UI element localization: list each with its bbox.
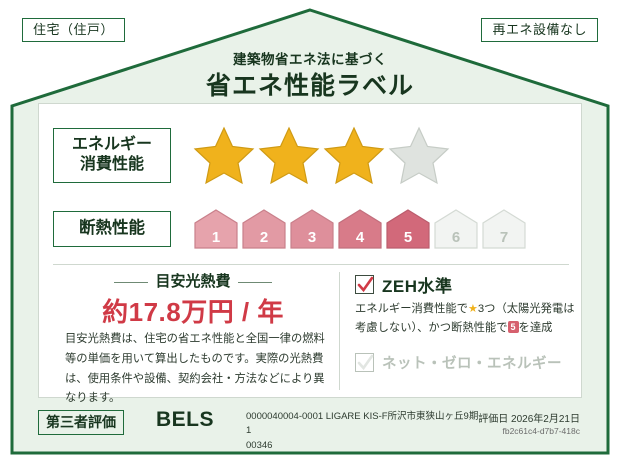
- row-insulation-label: 断熱性能: [53, 211, 171, 247]
- rule-right: [238, 282, 272, 283]
- certificate-id-line1: 0000040004-0001 LIGARE KIS-F所沢市東狭山ヶ丘9期1: [246, 411, 478, 436]
- zeh-desc-part3: を達成: [519, 322, 553, 334]
- bels-logo: BELS: [156, 408, 214, 432]
- star-icon-4-empty: [388, 125, 450, 185]
- third-party-evaluation-badge: 第三者評価: [38, 410, 124, 435]
- zeh-checkbox[interactable]: [355, 275, 374, 294]
- certificate-id-line2: 00346: [246, 440, 272, 451]
- net-zero-energy-row: ネット・ゼロ・エネルギー: [355, 352, 562, 373]
- certificate-id: 0000040004-0001 LIGARE KIS-F所沢市東狭山ヶ丘9期1 …: [246, 410, 481, 453]
- grade-1: 1: [193, 208, 239, 250]
- insulation-grade-scale: 1 2 3 4 5: [171, 208, 583, 250]
- grade-2-value: 2: [241, 229, 287, 246]
- grade-6-value: 6: [433, 229, 479, 246]
- net-zero-energy-checkbox[interactable]: [355, 353, 374, 372]
- star-icon-2-filled: [258, 125, 320, 185]
- tag-housing-type: 住宅（住戸）: [22, 18, 125, 42]
- title-main: 省エネ性能ラベル: [0, 66, 620, 102]
- grade-2: 2: [241, 208, 287, 250]
- net-zero-energy-label: ネット・ゼロ・エネルギー: [382, 352, 562, 373]
- energy-cost-note: 目安光熱費は、住宅の省エネ性能と全国一律の燃料等の単価を用いて算出したものです。…: [65, 330, 327, 409]
- tag-renewable-energy: 再エネ設備なし: [481, 18, 598, 42]
- grade-4-value: 4: [337, 229, 383, 246]
- energy-performance-label: 住宅（住戸） 再エネ設備なし 建築物省エネ法に基づく 省エネ性能ラベル エネルギ…: [0, 0, 620, 463]
- grade-3-value: 3: [289, 229, 335, 246]
- star-rating: [171, 125, 583, 185]
- star-icon-mini: ★: [468, 303, 478, 315]
- grade-3: 3: [289, 208, 335, 250]
- rule-left: [114, 282, 148, 283]
- grade-5-value: 5: [385, 229, 431, 246]
- star-icon-1-filled: [193, 125, 255, 185]
- row-insulation-performance: 断熱性能 1 2 3 4: [39, 200, 583, 258]
- row-energy-label-line1: エネルギー: [72, 136, 152, 153]
- row-energy-performance: エネルギー 消費性能: [39, 114, 583, 196]
- title-subtitle: 建築物省エネ法に基づく: [0, 48, 620, 68]
- label-card: エネルギー 消費性能 断熱性能: [38, 103, 582, 398]
- evaluation-date: 評価日 2026年2月21日: [478, 410, 580, 425]
- zeh-label: ZEH水準: [382, 272, 453, 297]
- star-icon-3-filled: [323, 125, 385, 185]
- grade-6: 6: [433, 208, 479, 250]
- zeh-row: ZEH水準: [355, 272, 453, 297]
- grade-4: 4: [337, 208, 383, 250]
- footer: 第三者評価 BELS 0000040004-0001 LIGARE KIS-F所…: [38, 406, 582, 448]
- zeh-description: エネルギー消費性能で★3つ（太陽光発電は考慮しない）、かつ断熱性能で5を達成: [355, 300, 577, 337]
- energy-cost-title: 目安光熱費: [53, 270, 333, 291]
- document-hash: fb2c61c4-d7b7-418c: [502, 426, 580, 436]
- divider-horizontal: [53, 264, 569, 265]
- grade-7: 7: [481, 208, 527, 250]
- grade-1-value: 1: [193, 229, 239, 246]
- energy-cost-title-text: 目安光熱費: [155, 273, 230, 290]
- grade-badge-mini: 5: [508, 321, 519, 333]
- energy-cost-value: 約17.8万円 / 年: [53, 292, 333, 329]
- grade-5: 5: [385, 208, 431, 250]
- row-energy-label: エネルギー 消費性能: [53, 128, 171, 183]
- divider-vertical: [339, 272, 340, 390]
- row-energy-label-line2: 消費性能: [80, 156, 144, 173]
- grade-7-value: 7: [481, 229, 527, 246]
- zeh-desc-part1: エネルギー消費性能で: [355, 303, 468, 315]
